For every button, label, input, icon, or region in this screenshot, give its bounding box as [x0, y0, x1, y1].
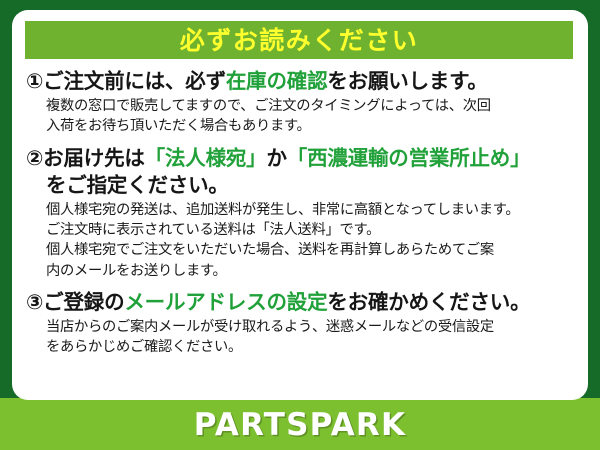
notice-item-2-heading-part-1: お届け先は — [43, 146, 145, 170]
notice-item-1-heading-part-3: をお願いします。 — [327, 69, 487, 93]
header-banner: 必ずお読みください — [25, 21, 573, 59]
brand-footer: PARTSPARK — [0, 400, 600, 450]
notice-item-1: ①ご注文前には、必ず在庫の確認をお願いします。 複数の窓口で販売してますので、ご… — [26, 68, 580, 137]
notice-item-3-heading-part-3: をお確かめください。 — [327, 290, 530, 314]
notice-items-list: ①ご注文前には、必ず在庫の確認をお願いします。 複数の窓口で販売してますので、ご… — [12, 68, 588, 366]
notice-item-2-heading-line2: をご指定ください。 — [26, 172, 580, 199]
notice-item-1-heading-part-1: ご注文前には、必ず — [43, 69, 226, 93]
notice-item-3-heading-highlight: メールアドレスの設定 — [124, 290, 327, 314]
notice-item-1-marker: ① — [26, 69, 43, 93]
notice-item-2-heading-part-3: か — [266, 146, 286, 170]
notice-item-1-subline-1: 複数の窓口で販売してますので、ご注文のタイミングによっては、次回 — [46, 96, 580, 116]
notice-item-2-heading-highlight-1: 「法人様宛」 — [145, 146, 267, 170]
notice-card: 必ずお読みください ①ご注文前には、必ず在庫の確認をお願いします。 複数の窓口で… — [12, 10, 588, 400]
notice-item-3: ③ご登録のメールアドレスの設定をお確かめください。 当店からのご案内メールが受け… — [26, 289, 580, 358]
notice-item-3-heading: ③ご登録のメールアドレスの設定をお確かめください。 — [26, 289, 580, 316]
notice-item-1-subline-2: 入荷をお待ち頂いただく場合もあります。 — [46, 116, 580, 136]
notice-item-3-subline-1: 当店からのご案内メールが受け取れるよう、迷惑メールなどの受信設定 — [46, 317, 580, 337]
notice-item-2-heading: ②お届け先は「法人様宛」か「西濃運輸の営業所止め」 — [26, 145, 580, 172]
notice-item-2-subline-4: 内のメールをお送りします。 — [46, 261, 580, 281]
header-title: 必ずお読みください — [180, 28, 419, 53]
notice-item-2-marker: ② — [26, 146, 43, 170]
notice-item-2-subline-2: ご注文時に表示されている送料は「法人送料」です。 — [46, 220, 580, 240]
notice-item-3-marker: ③ — [26, 290, 43, 314]
notice-item-1-heading-highlight: 在庫の確認 — [226, 69, 328, 93]
notice-banner: 必ずお読みください ①ご注文前には、必ず在庫の確認をお願いします。 複数の窓口で… — [0, 0, 600, 450]
notice-item-3-subtext: 当店からのご案内メールが受け取れるよう、迷惑メールなどの受信設定 をあらかじめご… — [26, 317, 580, 358]
notice-item-2-subline-1: 個人様宅宛の発送は、追加送料が発生し、非常に高額となってしまいます。 — [46, 200, 580, 220]
notice-item-2-subtext: 個人様宅宛の発送は、追加送料が発生し、非常に高額となってしまいます。 ご注文時に… — [26, 200, 580, 281]
notice-item-2-heading-highlight-2: 「西濃運輸の営業所止め」 — [287, 146, 531, 170]
notice-item-2: ②お届け先は「法人様宛」か「西濃運輸の営業所止め」 をご指定ください。 個人様宅… — [26, 145, 580, 281]
notice-item-1-heading: ①ご注文前には、必ず在庫の確認をお願いします。 — [26, 68, 580, 95]
brand-name: PARTSPARK — [194, 410, 406, 441]
notice-item-2-subline-3: 個人様宅宛でご注文をいただいた場合、送料を再計算しあらためてご案 — [46, 240, 580, 260]
notice-item-3-subline-2: をあらかじめご確認ください。 — [46, 337, 580, 357]
notice-item-1-subtext: 複数の窓口で販売してますので、ご注文のタイミングによっては、次回 入荷をお待ち頂… — [26, 96, 580, 137]
notice-item-3-heading-part-1: ご登録の — [43, 290, 124, 314]
